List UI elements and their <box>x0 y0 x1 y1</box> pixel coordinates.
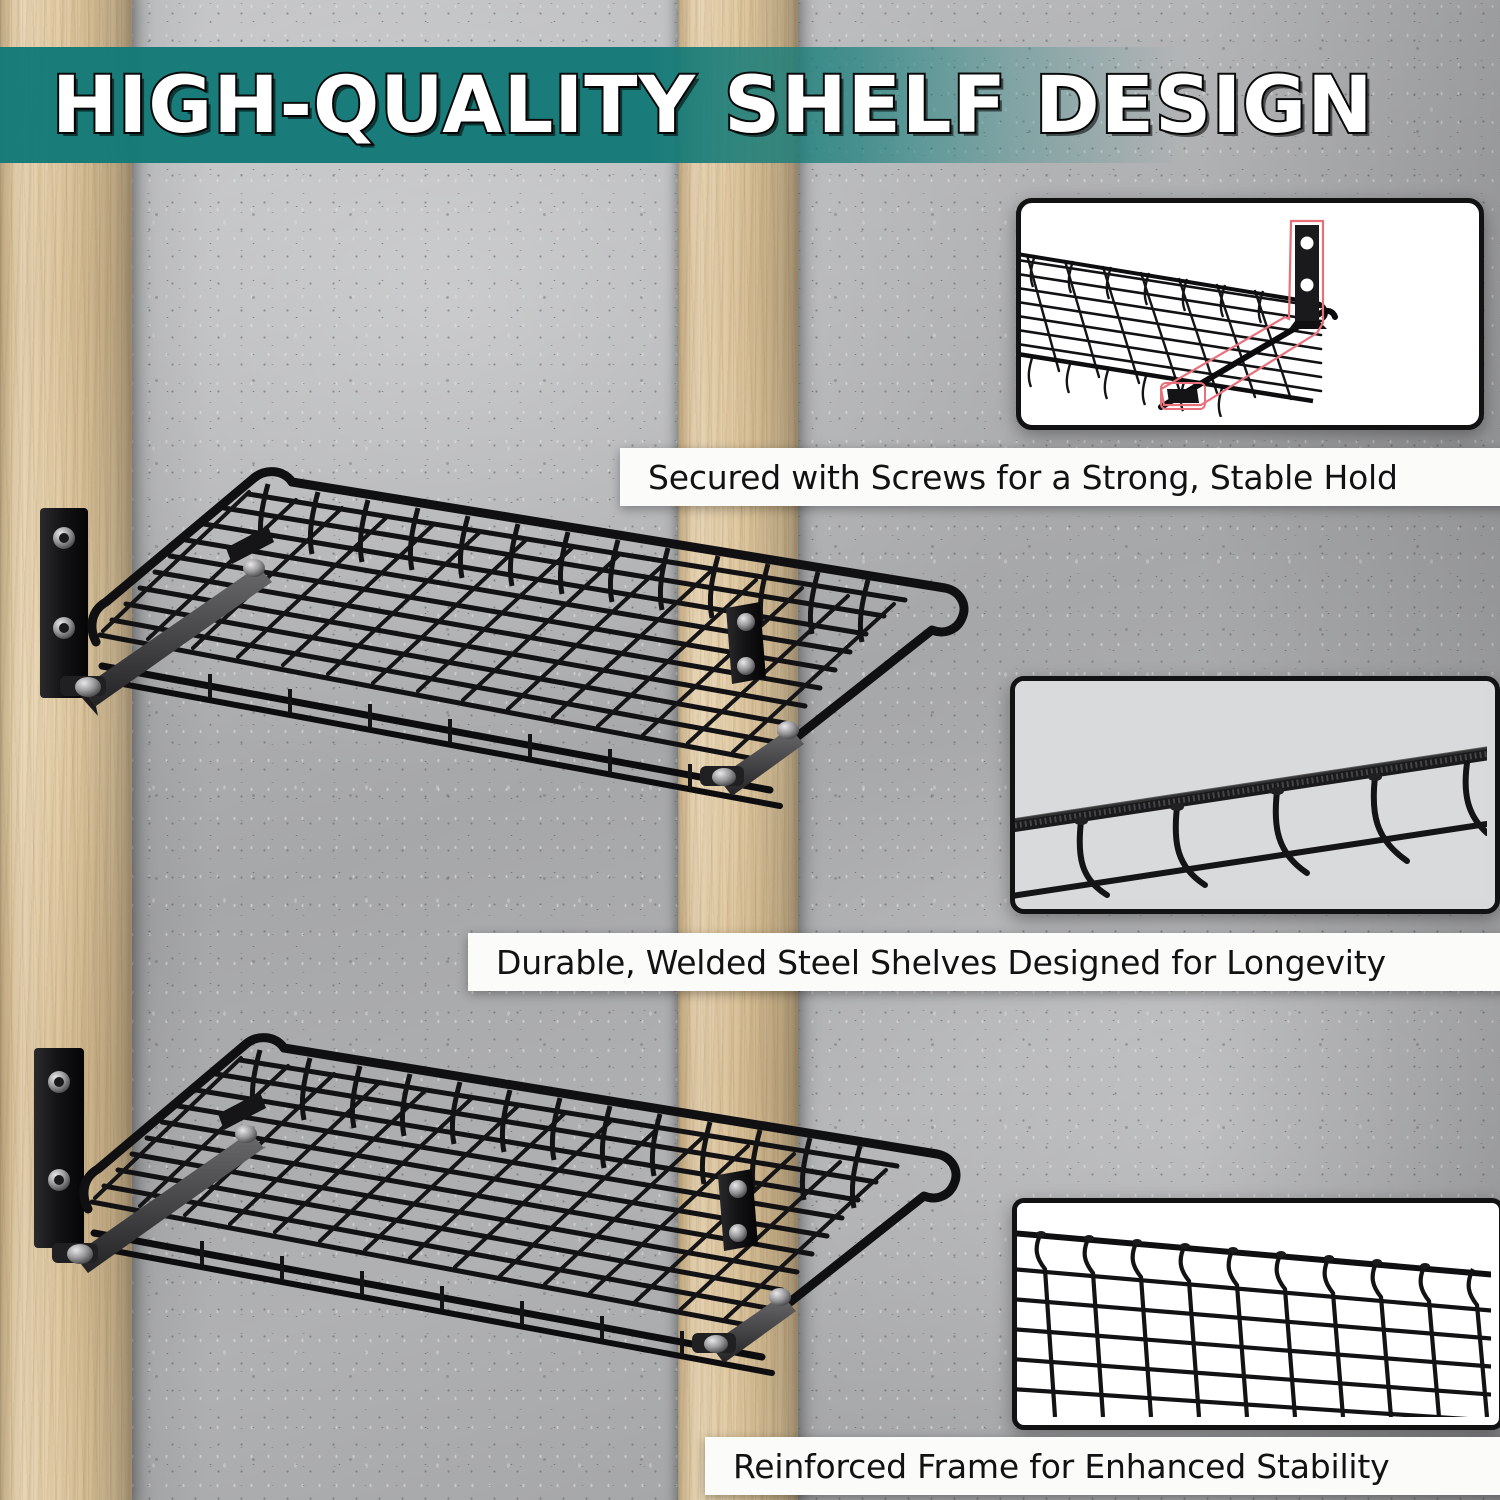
caption-reinforced-frame: Reinforced Frame for Enhanced Stability <box>705 1437 1500 1495</box>
shelf-lower-support-rail <box>94 1233 772 1373</box>
caption-secured-with-screws: Secured with Screws for a Strong, Stable… <box>620 448 1500 506</box>
wire-shelf-lower <box>0 1020 1100 1420</box>
inset-bracket-detail <box>1016 198 1484 430</box>
page-title: HIGH-QUALITY SHELF DESIGN <box>52 52 1392 160</box>
shelf-mesh-longitudinal-wires <box>92 1060 897 1326</box>
caption-durable-welded-steel: Durable, Welded Steel Shelves Designed f… <box>468 933 1500 991</box>
shelf-mesh-cross-wires <box>95 1058 886 1319</box>
wall-mount-plate-left <box>34 1048 84 1248</box>
product-infographic: HIGH-QUALITY SHELF DESIGN <box>0 0 1500 1500</box>
inset-mesh-detail <box>1012 1198 1500 1430</box>
shelf-mesh-longitudinal-wires <box>100 494 905 760</box>
bracket-foot <box>1167 389 1199 403</box>
wall-mount-plate-left <box>40 508 88 698</box>
inset-weld-detail <box>1010 676 1500 914</box>
shelf-lower-support-rail <box>102 666 780 806</box>
